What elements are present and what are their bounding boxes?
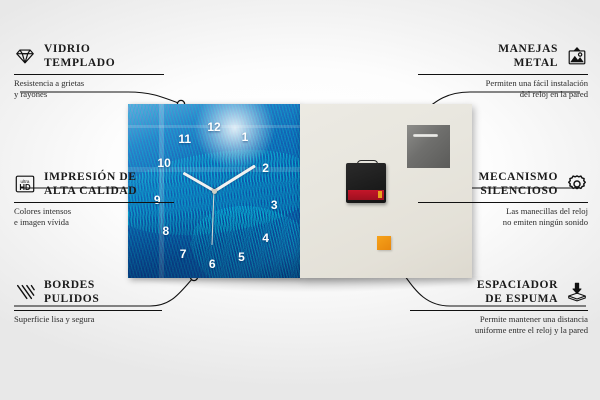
hour-number-4: 4 xyxy=(262,232,269,244)
feature-mecanismo-silencioso: MECANISMO SILENCIOSO Las manecillas del … xyxy=(418,170,588,229)
hour-number-6: 6 xyxy=(209,258,216,270)
feature-title-line2: TEMPLADO xyxy=(44,56,115,70)
hour-number-1: 1 xyxy=(242,131,249,143)
hour-number-10: 10 xyxy=(157,157,170,169)
hour-number-7: 7 xyxy=(180,248,187,260)
feature-desc-line2: uniforme entre el reloj y la pared xyxy=(410,325,588,337)
feature-desc-line2: del reloj en la pared xyxy=(418,89,588,101)
feature-desc-line1: Colores intensos xyxy=(14,206,174,218)
clock-mechanism xyxy=(346,163,386,203)
feature-title-line1: VIDRIO xyxy=(44,42,115,56)
feature-desc-line1: Permite mantener una distancia xyxy=(410,314,588,326)
mechanism-hook xyxy=(357,160,378,166)
feature-title-line2: DE ESPUMA xyxy=(477,292,558,306)
feature-title-line1: ESPACIADOR xyxy=(477,278,558,292)
feature-desc-line1: Permiten una fácil instalación xyxy=(418,78,588,90)
feature-title-line2: SILENCIOSO xyxy=(478,184,558,198)
diamond-icon xyxy=(14,45,36,67)
feature-title-line2: METAL xyxy=(498,56,558,70)
battery-terminal xyxy=(378,191,382,198)
diagonal-lines-icon xyxy=(14,281,36,303)
feature-divider xyxy=(14,202,174,203)
metal-hanger-plate xyxy=(407,125,450,169)
clock-hour-hand xyxy=(182,172,215,193)
ultra-hd-icon: ultra HD xyxy=(14,173,36,195)
hour-number-11: 11 xyxy=(178,133,191,145)
feature-divider xyxy=(410,310,588,311)
feature-desc-line2: y rayones xyxy=(14,89,164,101)
feature-desc-line1: Las manecillas del reloj xyxy=(418,206,588,218)
feature-bordes-pulidos: BORDES PULIDOS Superficie lisa y segura xyxy=(14,278,162,325)
feature-divider xyxy=(418,74,588,75)
feature-divider xyxy=(14,310,162,311)
clock-second-hand xyxy=(211,191,214,245)
feature-desc-line2: no emiten ningún sonido xyxy=(418,217,588,229)
feature-espaciador-de-espuma: ESPACIADOR DE ESPUMA Permite mantener un… xyxy=(410,278,588,337)
feature-manejas-metal: MANEJAS METAL Permiten una fácil instala… xyxy=(418,42,588,101)
feature-divider xyxy=(418,202,588,203)
arrow-onto-pad-icon xyxy=(566,281,588,303)
gear-icon xyxy=(566,173,588,195)
feature-title-line2: ALTA CALIDAD xyxy=(44,184,137,198)
feature-impresion-alta-calidad: ultra HD IMPRESIÓN DE ALTA CALIDAD Color… xyxy=(14,170,174,229)
feature-title-line2: PULIDOS xyxy=(44,292,99,306)
infographic-stage: 12 1 2 3 4 5 6 7 8 9 10 11 xyxy=(0,0,600,400)
svg-text:HD: HD xyxy=(19,183,31,192)
feature-desc-line1: Resistencia a grietas xyxy=(14,78,164,90)
feature-divider xyxy=(14,74,164,75)
clock-minute-hand xyxy=(213,165,255,193)
feature-vidrio-templado: VIDRIO TEMPLADO Resistencia a grietas y … xyxy=(14,42,164,101)
hour-number-3: 3 xyxy=(271,199,278,211)
hanger-slot xyxy=(413,134,439,138)
foam-spacer xyxy=(377,236,391,250)
feature-title-line1: BORDES xyxy=(44,278,99,292)
feature-desc-line2: e imagen vívida xyxy=(14,217,174,229)
hour-number-5: 5 xyxy=(238,251,245,263)
feature-title-line1: MECANISMO xyxy=(478,170,558,184)
feature-title-line1: IMPRESIÓN DE xyxy=(44,170,137,184)
battery xyxy=(348,190,384,200)
hanging-picture-frame-icon xyxy=(566,45,588,67)
clock-center-hub xyxy=(212,189,217,194)
hour-number-12: 12 xyxy=(207,121,220,133)
feature-title-line1: MANEJAS xyxy=(498,42,558,56)
hour-number-2: 2 xyxy=(262,162,269,174)
feature-desc-line1: Superficie lisa y segura xyxy=(14,314,162,326)
